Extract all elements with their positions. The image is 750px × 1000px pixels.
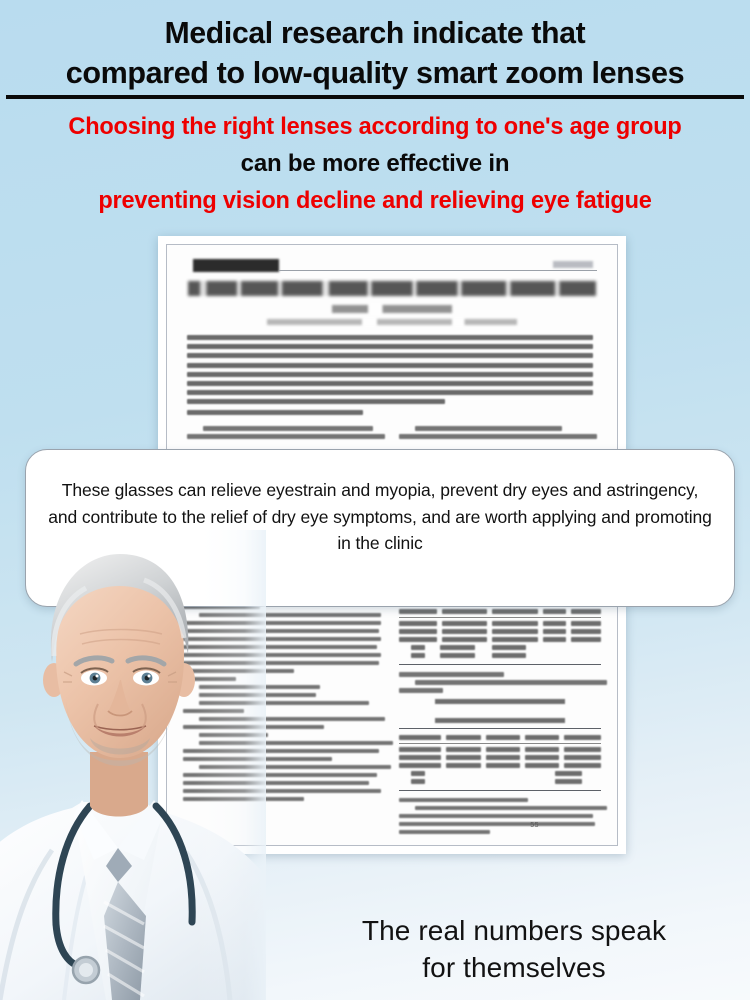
- table-row: [399, 763, 601, 768]
- poster-root: Medical research indicate that compared …: [0, 0, 750, 1000]
- journal-header-issue: [553, 261, 593, 268]
- article-column-left: [187, 426, 385, 442]
- table-row: [399, 621, 601, 626]
- table-row: [399, 629, 601, 634]
- table-row: [399, 735, 601, 744]
- journal-name-tag: [193, 259, 279, 272]
- table-row: [399, 637, 601, 642]
- tagline-block: The real numbers speak for themselves: [304, 913, 724, 986]
- page-number: 55: [530, 822, 539, 829]
- table-row: [399, 779, 601, 784]
- tagline-line-2: for themselves: [304, 950, 724, 986]
- headline-line-4: can be more effective in: [0, 150, 750, 178]
- tagline-line-1: The real numbers speak: [304, 913, 724, 949]
- statistics-table-2: [399, 728, 601, 791]
- article-affiliation: [267, 319, 517, 325]
- table-row: [399, 609, 601, 618]
- table-row: [399, 645, 601, 650]
- journal-header-rule: [279, 270, 597, 271]
- table-caption-2: [435, 699, 564, 704]
- article-abstract: [183, 335, 601, 415]
- table-row: [399, 653, 601, 658]
- headline-line-2: compared to low-quality smart zoom lense…: [12, 55, 739, 91]
- headline-block: Medical research indicate that compared …: [0, 0, 750, 215]
- table-caption-2b: [435, 718, 564, 723]
- table-row: [399, 747, 601, 752]
- doctor-photo: [0, 530, 266, 1000]
- article-authors: [332, 305, 452, 313]
- journal-header-band: [183, 259, 601, 272]
- headline-line-1: Medical research indicate that: [11, 14, 739, 52]
- headline-line-5: preventing vision decline and relieving …: [8, 187, 743, 215]
- article-columns-top: [183, 426, 601, 442]
- headline-line-2-underline: compared to low-quality smart zoom lense…: [6, 55, 744, 100]
- table-row: [399, 755, 601, 760]
- article-column-right: [399, 426, 597, 442]
- statistics-table-1: [399, 602, 601, 665]
- article-title: [188, 281, 596, 296]
- article-body-right: [399, 597, 601, 835]
- headline-line-3: Choosing the right lenses according to o…: [8, 113, 743, 141]
- table-row: [399, 771, 601, 776]
